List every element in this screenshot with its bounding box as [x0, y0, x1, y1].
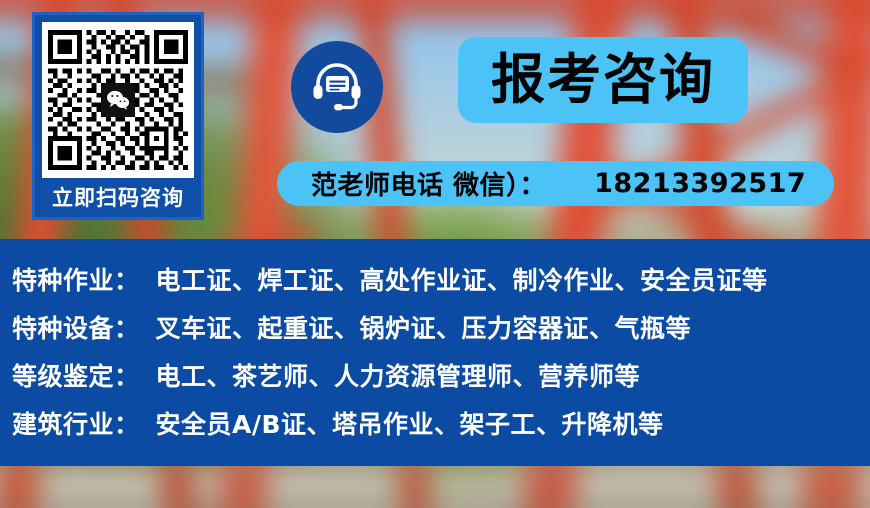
- category-label: 等级鉴定：: [12, 357, 140, 393]
- contact-label: 范老师电话 微信）：: [311, 165, 546, 202]
- qr-code-image[interactable]: [42, 22, 194, 178]
- category-value: 电工证、焊工证、高处作业证、制冷作业、安全员证等: [156, 261, 768, 297]
- category-row-construction: 建筑行业： 安全员A/B证、塔吊作业、架子工、升降机等: [0, 399, 870, 447]
- qr-caption: 立即扫码咨询: [42, 178, 194, 218]
- category-row-skill-grading: 等级鉴定： 电工、茶艺师、人力资源管理师、营养师等: [0, 351, 870, 399]
- promo-banner: 立即扫码咨询 报考咨询 范老师电话 微信）： 18213392517 特种作业：…: [0, 0, 870, 508]
- headset-chat-icon: [291, 41, 383, 133]
- contact-pill[interactable]: 范老师电话 微信）： 18213392517: [277, 161, 834, 206]
- contact-number[interactable]: 18213392517: [594, 168, 806, 199]
- category-row-special-operations: 特种作业： 电工证、焊工证、高处作业证、制冷作业、安全员证等: [0, 255, 870, 303]
- category-label: 特种作业：: [12, 261, 140, 297]
- wechat-icon: [101, 83, 135, 117]
- category-value: 叉车证、起重证、锅炉证、压力容器证、气瓶等: [156, 309, 692, 345]
- ground-rail-2: [0, 501, 870, 508]
- page-title: 报考咨询: [491, 53, 715, 107]
- category-value: 电工、茶艺师、人力资源管理师、营养师等: [156, 357, 641, 393]
- headset-glyph: [307, 57, 367, 117]
- title-pill: 报考咨询: [458, 37, 748, 123]
- certificate-categories-panel: 特种作业： 电工证、焊工证、高处作业证、制冷作业、安全员证等 特种设备： 叉车证…: [0, 239, 870, 466]
- category-row-special-equipment: 特种设备： 叉车证、起重证、锅炉证、压力容器证、气瓶等: [0, 303, 870, 351]
- category-label: 特种设备：: [12, 309, 140, 345]
- category-label: 建筑行业：: [12, 405, 140, 441]
- qr-code-card[interactable]: 立即扫码咨询: [32, 12, 204, 220]
- category-value: 安全员A/B证、塔吊作业、架子工、升降机等: [156, 405, 664, 441]
- wechat-glyph: [106, 90, 130, 110]
